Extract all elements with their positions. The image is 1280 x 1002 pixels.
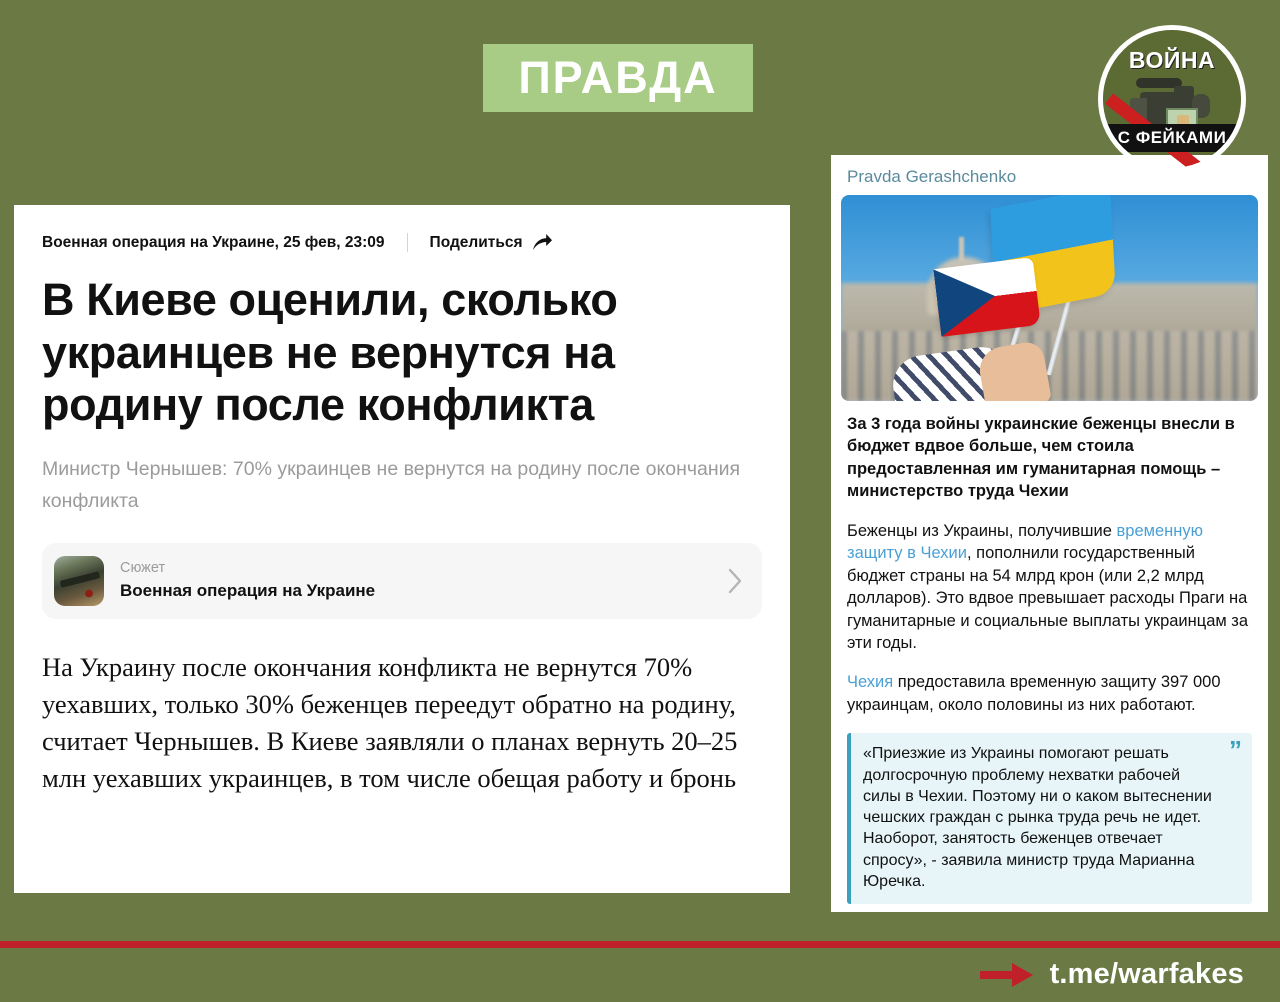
telegram-paragraph-2: Чехия предоставила временную защиту 397 … [847,671,1252,716]
telegram-post-photo[interactable] [841,195,1258,401]
telegram-quote-text: «Приезжие из Украины помогают решать дол… [863,745,1212,890]
story-card-texts: Сюжет Военная операция на Украине [120,559,727,603]
story-card-title: Военная операция на Украине [120,579,727,604]
article-category-date: Военная операция на Украине, 25 фев, 23:… [42,234,385,252]
meta-divider [407,233,408,252]
article-subtitle: Министр Чернышев: 70% украинцев не верну… [42,454,762,517]
article-card: Военная операция на Украине, 25 фев, 23:… [14,205,790,893]
pravda-banner-label: ПРАВДА [518,52,717,104]
footer-red-rule [0,941,1280,948]
chevron-right-icon[interactable] [727,567,744,595]
share-label: Поделиться [430,234,523,252]
logo-bottom-band: С ФЕЙКАМИ [1103,124,1241,152]
share-arrow-icon [532,233,553,252]
telegram-post-card: Pravda Gerashchenko За 3 года войны укра… [831,155,1268,912]
czech-flag-icon [933,257,1041,337]
pravda-banner: ПРАВДА [483,44,753,112]
story-thumbnail-icon [54,556,104,606]
telegram-paragraph-1: Беженцы из Украины, получившие временную… [847,520,1252,655]
paragraph1-text-before: Беженцы из Украины, получившие [847,522,1117,540]
logo-inner: ВОЙНА С ФЕЙКАМИ [1103,30,1241,168]
camera-grip [1174,86,1194,102]
telegram-lead-paragraph: За 3 года войны украинские беженцы внесл… [847,413,1252,503]
quotation-mark-icon: ” [1229,737,1242,763]
paragraph2-text: предоставила временную защиту 397 000 ук… [847,673,1221,713]
article-headline: В Киеве оценили, сколько украинцев не ве… [42,274,762,432]
telegram-channel-name[interactable]: Pravda Gerashchenko [841,165,1258,195]
warfakes-logo-badge: ВОЙНА С ФЕЙКАМИ [1098,25,1246,173]
right-arrow-icon [980,961,1034,989]
telegram-quote-block: ” «Приезжие из Украины помогают решать д… [847,733,1252,904]
article-body: На Украину после окончания конфликта не … [42,649,762,797]
story-card-label: Сюжет [120,559,727,578]
logo-top-text: ВОЙНА [1103,47,1241,74]
logo-bottom-text: С ФЕЙКАМИ [1118,128,1227,148]
share-button[interactable]: Поделиться [430,233,553,252]
article-meta-row: Военная операция на Украине, 25 фев, 23:… [42,227,762,252]
story-card[interactable]: Сюжет Военная операция на Украине [42,543,762,619]
footer-link-text: t.me/warfakes [1050,958,1244,991]
czechia-link[interactable]: Чехия [847,673,893,691]
building-spire [959,237,964,261]
footer-channel-link[interactable]: t.me/warfakes [980,958,1244,991]
